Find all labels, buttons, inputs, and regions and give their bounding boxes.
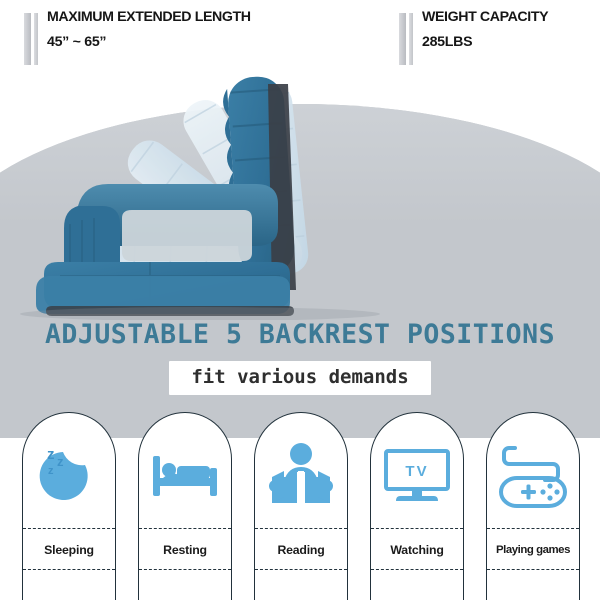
use-case-label: Playing games: [487, 531, 579, 569]
gamepad-icon: [487, 429, 579, 523]
infographic-canvas: MAXIMUM EXTENDED LENGTH 45” ~ 65” WEIGHT…: [0, 0, 600, 600]
svg-text:z: z: [47, 446, 55, 463]
use-case-card-sleeping: z z z Sleeping: [22, 412, 116, 600]
divider-bottom: [371, 569, 463, 570]
accent-bar: [409, 13, 413, 65]
accent-bar: [34, 13, 38, 65]
divider-bottom: [139, 569, 231, 570]
subtitle: fit various demands: [169, 361, 430, 395]
svg-text:z: z: [57, 454, 64, 469]
use-case-card-reading: Reading: [254, 412, 348, 600]
stat-max-extended-length: MAXIMUM EXTENDED LENGTH 45” ~ 65”: [24, 10, 251, 65]
moon-zzz-icon: z z z: [23, 429, 115, 523]
tv-icon: TV: [371, 429, 463, 523]
divider-top: [487, 528, 579, 529]
divider-bottom: [487, 569, 579, 570]
headline: ADJUSTABLE 5 BACKREST POSITIONS: [0, 322, 600, 349]
divider-top: [23, 528, 115, 529]
svg-text:z: z: [48, 465, 54, 477]
divider-top: [139, 528, 231, 529]
stat-title: WEIGHT CAPACITY: [422, 10, 548, 24]
stat-title: MAXIMUM EXTENDED LENGTH: [47, 10, 251, 24]
use-case-cards: z z z Sleeping Re: [0, 412, 600, 600]
divider-bottom: [23, 569, 115, 570]
accent-bars-left: [24, 10, 38, 65]
stat-value: 45” ~ 65”: [47, 35, 251, 49]
person-reading-book-icon: [255, 429, 347, 523]
tv-label: TV: [405, 463, 428, 480]
use-case-card-resting: Resting: [138, 412, 232, 600]
use-case-label: Sleeping: [23, 531, 115, 569]
divider-top: [255, 528, 347, 529]
accent-bar: [399, 13, 406, 65]
use-case-card-watching: TV Watching: [370, 412, 464, 600]
use-case-card-playing-games: Playing games: [486, 412, 580, 600]
divider-top: [371, 528, 463, 529]
use-case-label: Resting: [139, 531, 231, 569]
stat-value: 285LBS: [422, 35, 548, 49]
accent-bar: [24, 13, 31, 65]
use-case-label: Watching: [371, 531, 463, 569]
accent-bars-right: [399, 10, 413, 65]
divider-bottom: [255, 569, 347, 570]
stat-weight-capacity: WEIGHT CAPACITY 285LBS: [399, 10, 548, 65]
subtitle-container: fit various demands: [0, 361, 600, 395]
bed-person-icon: [139, 429, 231, 523]
use-case-label: Reading: [255, 531, 347, 569]
